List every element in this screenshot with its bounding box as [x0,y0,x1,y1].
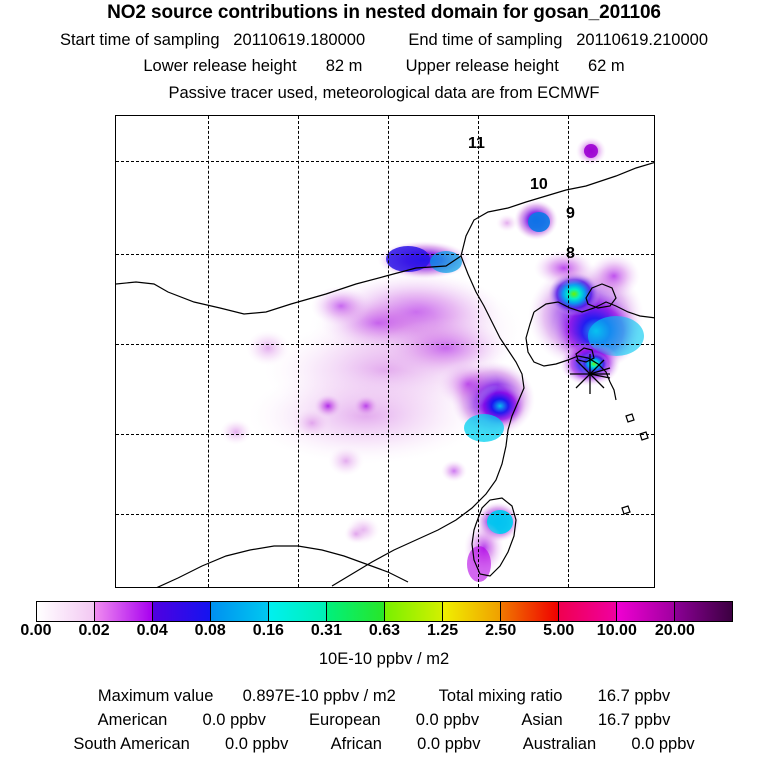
colorbar-tick-label: 20.00 [655,622,695,640]
upper-release-height-label: Upper release height [406,57,559,75]
colorbar-segment [675,602,732,621]
gridline-horizontal [116,161,654,162]
footer-summary-line: Maximum value 0.897E-10 ppbv / m2 Total … [0,687,768,706]
gridline-horizontal [116,434,654,435]
gridline-horizontal [116,514,654,515]
region-value-asian: 16.7 ppbv [598,711,670,729]
release-site-marker [568,352,612,396]
gridline-vertical [478,116,479,587]
colorbar-segment [617,602,675,621]
gridline-vertical [208,116,209,587]
gridline-horizontal [116,344,654,345]
colorbar-segment [95,602,153,621]
region-label-asian: Asian [521,711,562,729]
colorbar-segment [559,602,617,621]
gridline-vertical [388,116,389,587]
colorbar-tick-label: 0.08 [195,622,226,640]
lower-release-height-value: 82 m [326,57,363,75]
max-value-label: Maximum value [98,687,214,705]
region-label-south-american: South American [73,735,189,753]
region-value-european: 0.0 ppbv [416,711,479,729]
colorbar-tick-label: 5.00 [543,622,574,640]
trajectory-marker-8: 8 [566,246,575,262]
colorbar-segment [501,602,559,621]
region-value-south-american: 0.0 ppbv [225,735,288,753]
colorbar-segment [37,602,95,621]
upper-release-height-value: 62 m [588,57,625,75]
region-label-european: European [309,711,381,729]
map-plot-area[interactable]: 11 10 9 8 [115,115,655,588]
region-value-african: 0.0 ppbv [417,735,480,753]
colorbar-segment [153,602,211,621]
gridline-vertical [298,116,299,587]
region-label-american: American [98,711,168,729]
region-value-australian: 0.0 ppbv [631,735,694,753]
map-canvas: 11 10 9 8 [116,116,654,587]
colorbar-tick-labels: 0.000.020.040.080.160.310.631.252.505.00… [0,622,768,642]
colorbar-tick-label: 0.04 [137,622,168,640]
total-mixing-ratio-label: Total mixing ratio [439,687,563,705]
tracer-note: Passive tracer used, meteorological data… [0,84,768,103]
end-time-value: 20110619.210000 [576,31,708,49]
trajectory-marker-11: 11 [468,136,485,152]
trajectory-marker-9: 9 [566,206,575,222]
release-height-line: Lower release height 82 m Upper release … [0,57,768,76]
region-value-american: 0.0 ppbv [203,711,266,729]
colorbar-tick-label: 0.31 [311,622,342,640]
colorbar-tick-label: 1.25 [427,622,458,640]
colorbar-tick-label: 0.63 [369,622,400,640]
max-value: 0.897E-10 ppbv / m2 [243,687,396,705]
colorbar-segment [327,602,385,621]
colorbar [36,601,733,622]
colorbar-tick-label: 0.02 [79,622,110,640]
colorbar-tick-label: 0.00 [20,622,51,640]
colorbar-unit-label: 10E-10 ppbv / m2 [0,650,768,669]
colorbar-segment [385,602,443,621]
end-time-label: End time of sampling [408,31,562,49]
colorbar-tick-label: 10.00 [597,622,637,640]
start-time-label: Start time of sampling [60,31,220,49]
colorbar-segment [443,602,501,621]
start-time-value: 20110619.180000 [233,31,365,49]
total-mixing-ratio-value: 16.7 ppbv [598,687,670,705]
footer-regions-row-1: American 0.0 ppbv European 0.0 ppbv Asia… [0,711,768,730]
region-label-african: African [331,735,382,753]
footer-regions-row-2: South American 0.0 ppbv African 0.0 ppbv… [0,735,768,754]
colorbar-tick-label: 2.50 [485,622,516,640]
colorbar-tick-label: 0.16 [253,622,284,640]
colorbar-segment [269,602,327,621]
sampling-time-line: Start time of sampling 20110619.180000 E… [0,31,768,50]
colorbar-segment [211,602,269,621]
page-title: NO2 source contributions in nested domai… [0,2,768,24]
trajectory-marker-10: 10 [530,177,548,193]
region-label-australian: Australian [523,735,596,753]
lower-release-height-label: Lower release height [143,57,296,75]
